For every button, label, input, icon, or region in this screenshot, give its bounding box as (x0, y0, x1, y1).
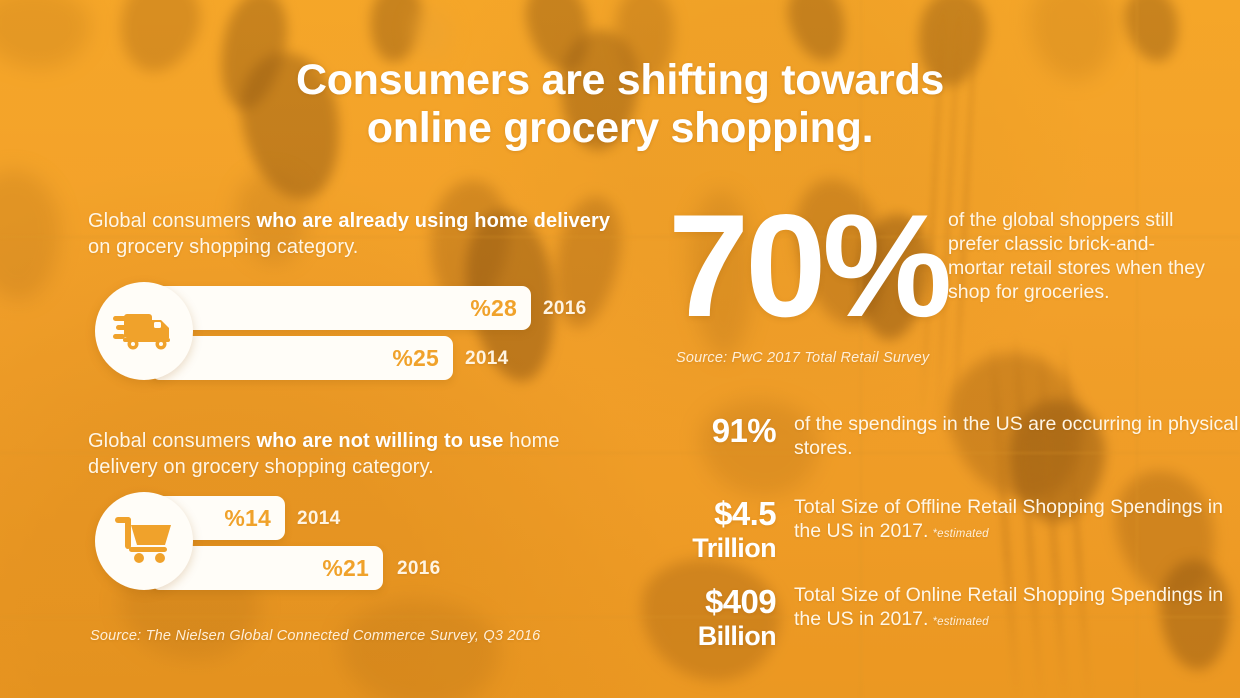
stat-number: 91% (668, 412, 776, 450)
stat-row-physical-stores: 91% of the spendings in the US are occur… (668, 412, 1240, 460)
bar-year-label: 2016 (397, 558, 440, 580)
stat-description: Total Size of Offline Retail Shopping Sp… (794, 495, 1240, 546)
page-title-line2: online grocery shopping. (0, 104, 1240, 152)
stat-description-text: Total Size of Offline Retail Shopping Sp… (794, 496, 1223, 542)
stat-description-text: Total Size of Online Retail Shopping Spe… (794, 584, 1223, 630)
hero-percentage-value: 70% (668, 193, 948, 339)
bar-year-label: 2014 (465, 348, 508, 370)
estimated-note: *estimated (932, 528, 988, 540)
stat-number-unit: Trillion (668, 533, 776, 564)
stat-row-offline-retail: $4.5 Trillion Total Size of Offline Reta… (668, 495, 1240, 564)
home-delivery-lead-text: Global consumers who are already using h… (88, 208, 628, 260)
estimated-note: *estimated (932, 616, 988, 628)
delivery-truck-icon (113, 308, 175, 355)
not-willing-lead-text: Global consumers who are not willing to … (88, 428, 608, 480)
lead2-bold: who are not willing to use (256, 430, 503, 452)
lead1-bold: who are already using home delivery (256, 210, 610, 232)
bar-value-label: %25 (392, 345, 453, 372)
lead1-post: on grocery shopping category. (88, 236, 358, 258)
shopping-cart-icon (115, 515, 173, 568)
lead2-pre: Global consumers (88, 430, 256, 452)
stat-number: $4.5 Trillion (668, 495, 776, 564)
stat-number-value: $409 (705, 583, 776, 620)
stat-row-online-retail: $409 Billion Total Size of Online Retail… (668, 583, 1240, 652)
stat-number: $409 Billion (668, 583, 776, 652)
shopping-cart-icon-circle (95, 492, 193, 590)
delivery-truck-icon-circle (95, 282, 193, 380)
bar-2014-home-delivery: %25 (151, 336, 453, 380)
bar-year-label: 2014 (297, 508, 340, 530)
bar-value-label: %21 (322, 555, 383, 582)
stat-description: Total Size of Online Retail Shopping Spe… (794, 583, 1240, 634)
stat-number-value: 91% (712, 412, 776, 449)
hero-description: of the global shoppers still prefer clas… (948, 208, 1210, 304)
pwc-source-note: Source: PwC 2017 Total Retail Survey (676, 350, 929, 366)
bar-value-label: %14 (224, 505, 285, 532)
bar-year-label: 2016 (543, 298, 586, 320)
stat-description-text: of the spendings in the US are occurring… (794, 413, 1238, 459)
nielsen-source-note: Source: The Nielsen Global Connected Com… (90, 628, 540, 644)
stat-number-unit: Billion (668, 621, 776, 652)
stat-number-value: $4.5 (714, 495, 776, 532)
page-title-line1: Consumers are shifting towards (0, 56, 1240, 104)
stat-description: of the spendings in the US are occurring… (794, 412, 1240, 460)
bar-value-label: %28 (470, 295, 531, 322)
lead1-pre: Global consumers (88, 210, 256, 232)
page-title: Consumers are shifting towards online gr… (0, 56, 1240, 152)
bar-2016-home-delivery: %28 (151, 286, 531, 330)
